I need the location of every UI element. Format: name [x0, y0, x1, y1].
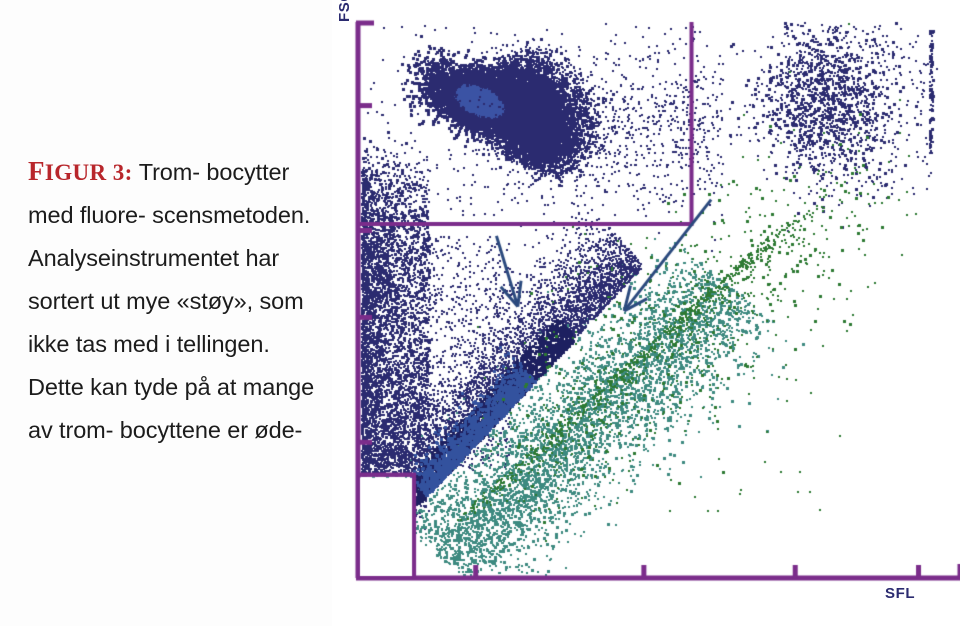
figure-page: FIGUR 3: Trom- bocytter med fluore- scen…: [0, 0, 960, 626]
figure-caption-text: Trom- bocytter med fluore- scensmetoden.…: [28, 159, 314, 443]
y-axis-title: FSC: [336, 0, 353, 22]
flow-cytometry-scatter-plot: FSC SFL: [332, 0, 960, 626]
scatter-canvas: [332, 0, 960, 626]
x-axis-title: SFL: [885, 585, 915, 602]
figure-caption: FIGUR 3: Trom- bocytter med fluore- scen…: [28, 150, 328, 452]
figure-label: FIGUR 3:: [28, 160, 133, 185]
